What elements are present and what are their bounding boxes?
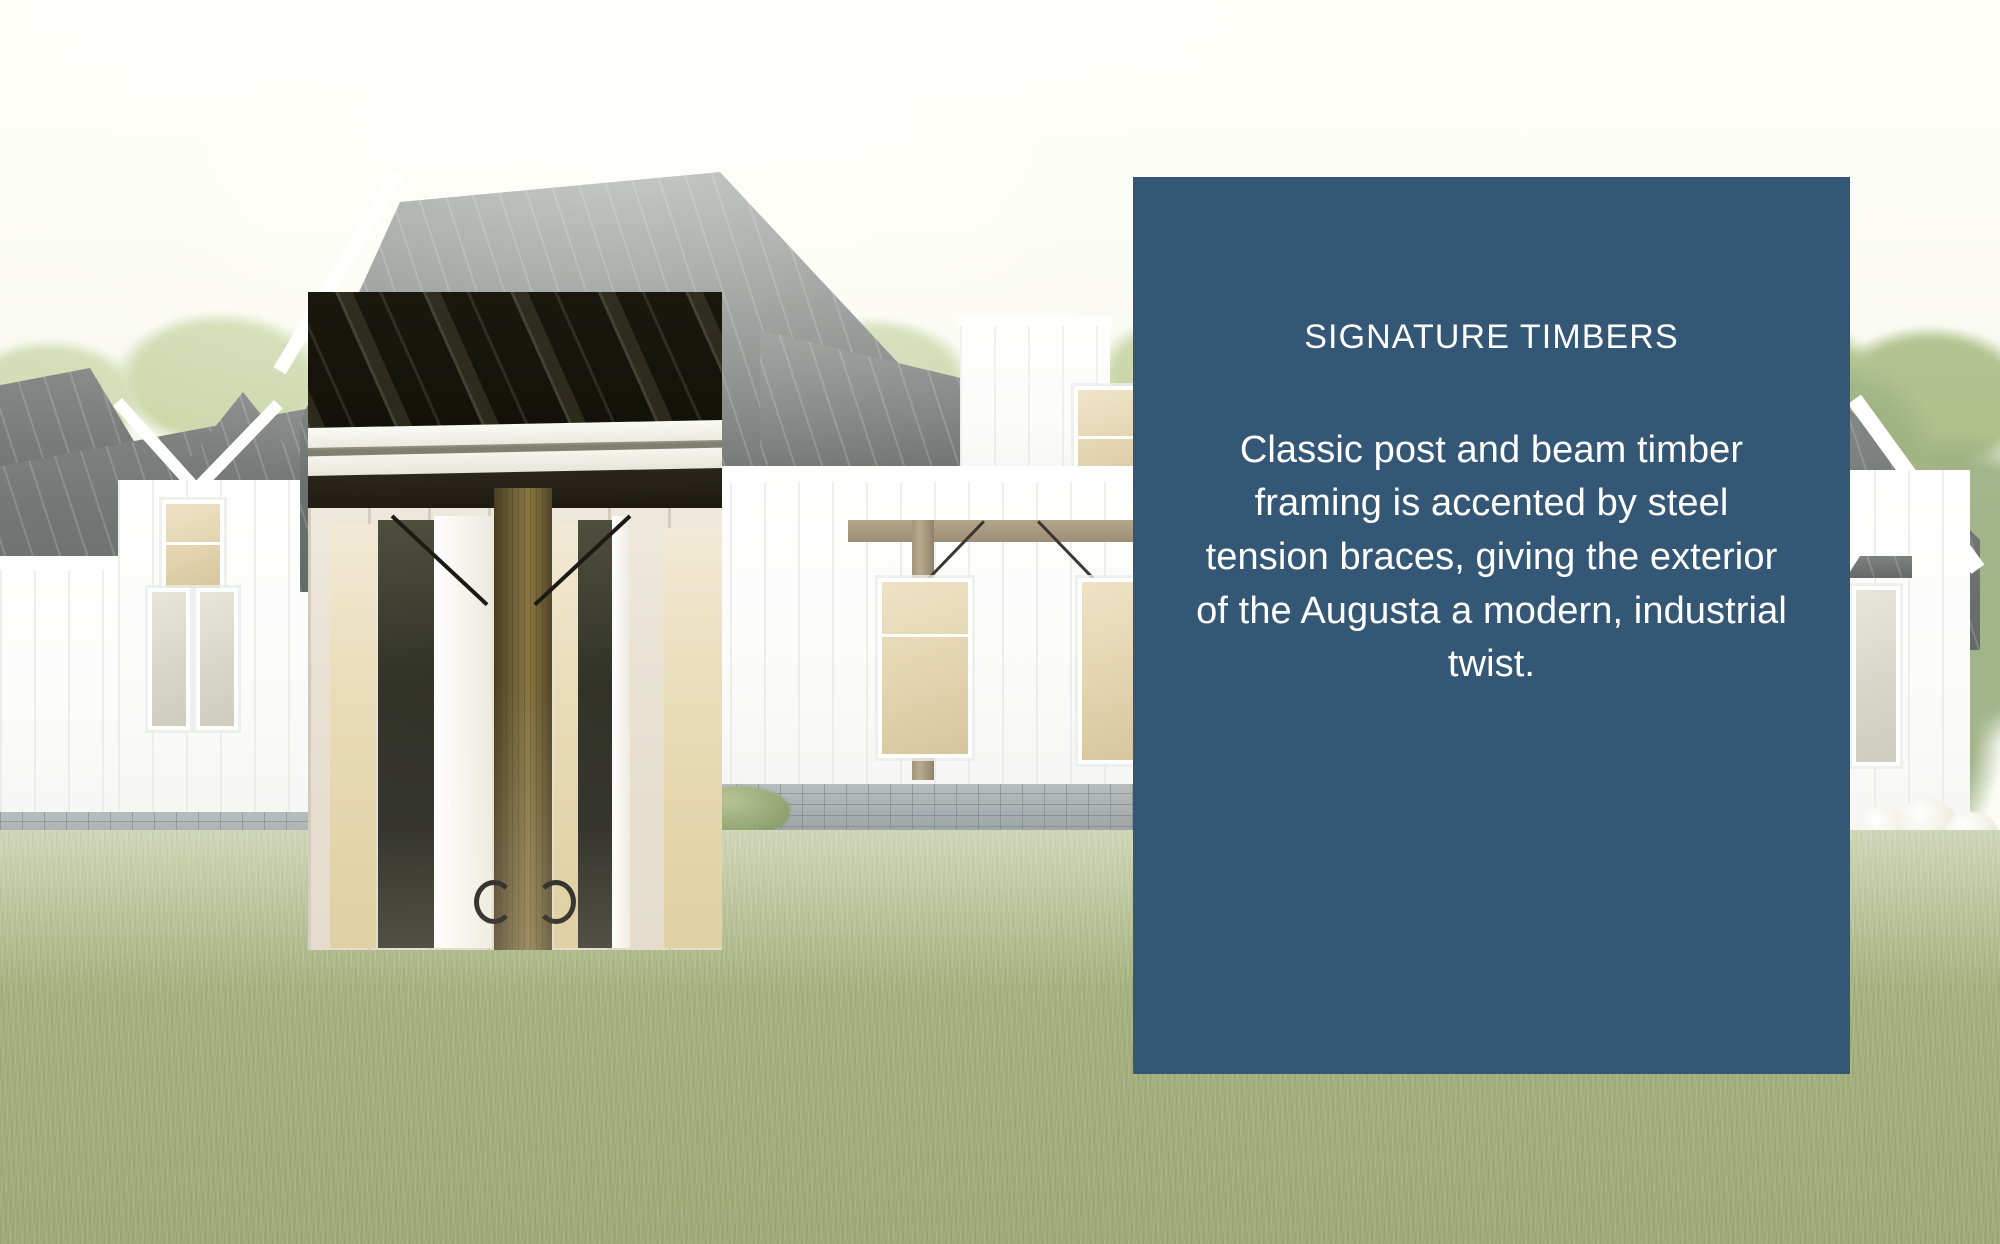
inset-glass-door-right (578, 520, 612, 948)
text-panel-content: SIGNATURE TIMBERS Classic post and beam … (1191, 317, 1792, 692)
inset-light-panel-far-right (664, 528, 722, 948)
slide-canvas: SIGNATURE TIMBERS Classic post and beam … (0, 0, 2000, 1244)
inset-detail-photo (308, 292, 722, 950)
window-porch-center (878, 578, 972, 758)
window-gable-lower-right (196, 588, 238, 730)
panel-heading: SIGNATURE TIMBERS (1191, 317, 1792, 358)
inset-brace-ring-right (536, 880, 576, 924)
inset-timber-post (494, 488, 552, 950)
inset-light-panel-left (330, 524, 376, 948)
inset-roof (308, 292, 722, 428)
inset-door-jamb-right (612, 516, 630, 948)
window-right-wing (1852, 586, 1900, 766)
window-porch-center-mullion (878, 634, 972, 637)
panel-body-text: Classic post and beam timber framing is … (1191, 424, 1792, 692)
window-gable-upper (162, 500, 224, 592)
inset-glass-door-left (378, 520, 434, 948)
window-gable-lower-left (148, 588, 190, 730)
inset-brace-ring-left (474, 880, 514, 924)
window-gable-upper-mullion (162, 542, 224, 545)
dormer-right-trim (958, 316, 1112, 326)
text-panel: SIGNATURE TIMBERS Classic post and beam … (1133, 177, 1850, 1074)
